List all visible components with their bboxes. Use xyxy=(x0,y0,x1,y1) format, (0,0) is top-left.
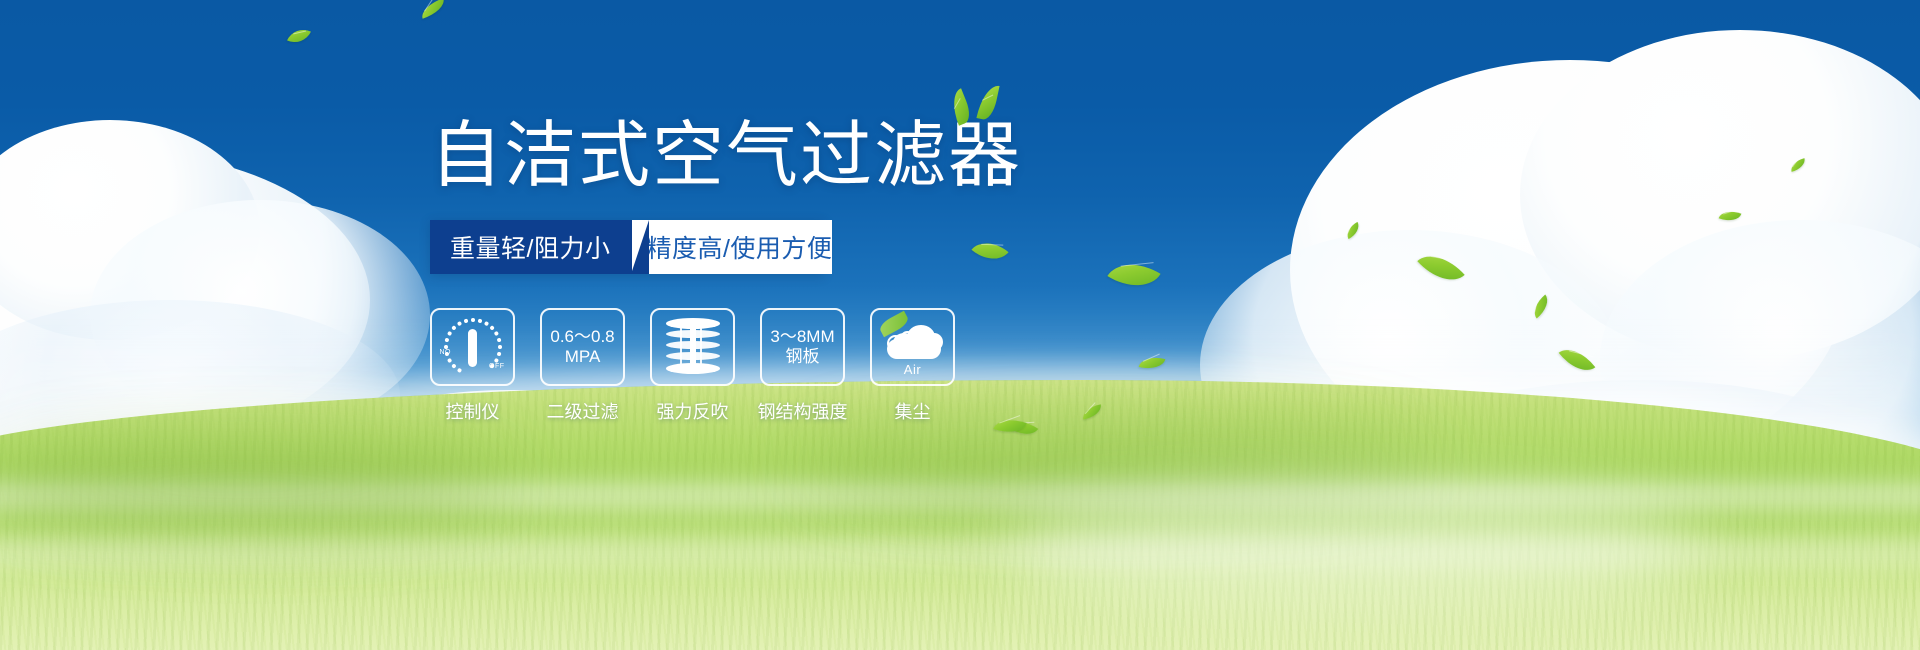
feature-caption: 控制仪 xyxy=(446,398,500,424)
grass-highlight-band-2 xyxy=(0,530,1920,576)
feature-item-back-blow[interactable]: 强力反吹 xyxy=(650,308,735,424)
sprout-leaves-icon xyxy=(950,80,1008,126)
steel-value-line1: 3～8MM xyxy=(770,327,834,347)
pressure-value-line1: 0.6～0.8 xyxy=(550,327,614,347)
feature-item-steel-strength[interactable]: 3～8MM 钢板 钢结构强度 xyxy=(760,308,845,424)
filter-cartridge-icon xyxy=(666,318,720,376)
tagline-right: 精度高/使用方便 xyxy=(632,220,832,274)
banner-content: 自洁式空气过滤器 重量轻/阻力小 精度高/使用方便 xyxy=(430,120,1110,424)
page-title: 自洁式空气过滤器 xyxy=(430,120,1022,192)
pressure-value-line2: MPA xyxy=(565,347,601,367)
feature-icon-box: Air xyxy=(870,308,955,386)
title-row: 自洁式空气过滤器 xyxy=(430,120,1022,192)
gauge-needle xyxy=(468,329,477,367)
feature-icon-box xyxy=(650,308,735,386)
feature-icon-box: NO OFF xyxy=(430,308,515,386)
gauge-label-on: NO xyxy=(440,349,452,356)
leaf-icon xyxy=(976,83,999,122)
gauge-icon: NO OFF xyxy=(440,317,506,377)
feature-item-controller[interactable]: NO OFF 控制仪 xyxy=(430,308,515,424)
tagline-badge: 重量轻/阻力小 精度高/使用方便 xyxy=(430,220,824,274)
feature-icon-box: 0.6～0.8 MPA xyxy=(540,308,625,386)
feature-list: NO OFF 控制仪 0.6～0.8 MPA 二级过滤 xyxy=(430,308,1110,424)
tagline-left: 重量轻/阻力小 xyxy=(430,220,632,274)
feature-caption: 钢结构强度 xyxy=(758,398,848,424)
air-cloud-icon: Air xyxy=(881,319,945,375)
feature-caption: 集尘 xyxy=(895,398,931,424)
gauge-label-off: OFF xyxy=(489,363,505,370)
feature-caption: 二级过滤 xyxy=(547,398,619,424)
hero-banner: 自洁式空气过滤器 重量轻/阻力小 精度高/使用方便 xyxy=(0,0,1920,650)
feature-caption: 强力反吹 xyxy=(657,398,729,424)
steel-value-line2: 钢板 xyxy=(786,347,820,367)
leaf-icon xyxy=(946,88,974,126)
feature-icon-box: 3～8MM 钢板 xyxy=(760,308,845,386)
grass-highlight-band-1 xyxy=(0,472,1920,518)
feature-item-dust-collection[interactable]: Air 集尘 xyxy=(870,308,955,424)
feature-item-two-stage-filter[interactable]: 0.6～0.8 MPA 二级过滤 xyxy=(540,308,625,424)
air-label: Air xyxy=(881,362,945,377)
